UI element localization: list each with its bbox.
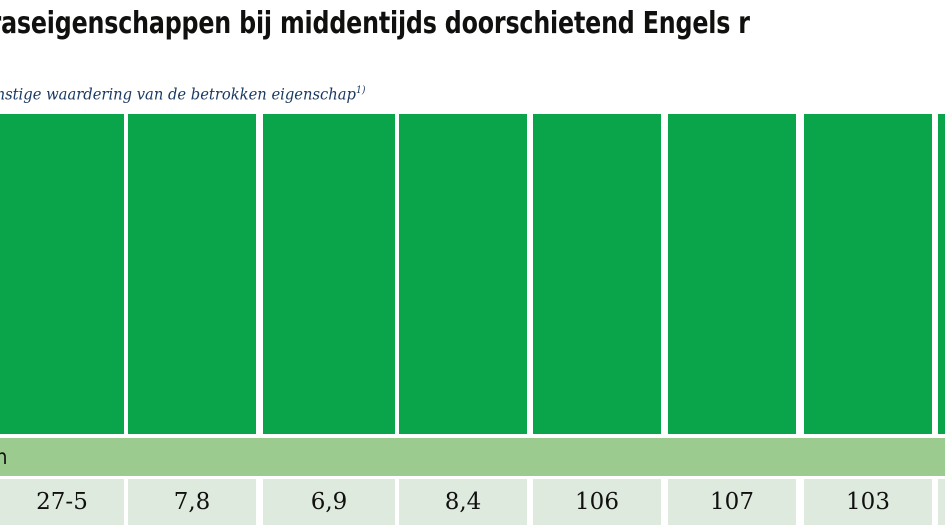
group-band-row: sen bbox=[0, 438, 945, 476]
page-note: n op een gunstige waardering van de betr… bbox=[0, 72, 920, 105]
table-header-row: Gemiddelde doorschiet- datumStandvastigh… bbox=[0, 114, 945, 434]
cell-opbrengst1: 106 bbox=[533, 479, 661, 525]
cell-doorschietdatum: 27-5 bbox=[0, 479, 124, 525]
page-subtitle: ltaten bbox=[0, 44, 920, 72]
cell-standvastigheid: 7,8 bbox=[128, 479, 256, 525]
column-header-opbrengst2[interactable]: Droge stofopbrengst (relatief) van de tw… bbox=[668, 114, 796, 434]
column-header-doorschietdatum[interactable]: Gemiddelde doorschiet- datum bbox=[0, 114, 124, 434]
column-header-opbrengst1[interactable]: Droge stofopbrengst (relatief) van de ee… bbox=[533, 114, 661, 434]
table-page: an de raseigenschappen bij middentijds d… bbox=[0, 0, 945, 530]
column-header-kroonroest[interactable]: Resistentie tegen kroon- roest bbox=[399, 114, 527, 434]
table-row: 27-57,86,98,4106107103 bbox=[0, 479, 945, 525]
footnote-marker: 1) bbox=[356, 85, 365, 96]
page-note-text: n op een gunstige waardering van de betr… bbox=[0, 84, 356, 103]
cell-extra bbox=[938, 479, 945, 525]
page-title: an de raseigenschappen bij middentijds d… bbox=[0, 0, 876, 44]
cell-opbrengst2: 107 bbox=[668, 479, 796, 525]
cell-kroonroest: 8,4 bbox=[399, 479, 527, 525]
column-header-wintervastheid[interactable]: Wintervastheid bbox=[263, 114, 395, 434]
document-header: an de raseigenschappen bij middentijds d… bbox=[0, 0, 945, 105]
group-band-label: sen bbox=[0, 438, 7, 476]
column-header-standvastigheid[interactable]: Standvastigheid bbox=[128, 114, 256, 434]
cell-wintervastheid: 6,9 bbox=[263, 479, 395, 525]
column-header-opbrengstgem[interactable]: Droge stofopbrengst (relatief) gemiddeld… bbox=[804, 114, 932, 434]
cell-opbrengstgem: 103 bbox=[804, 479, 932, 525]
ras-eigenschappen-table: Gemiddelde doorschiet- datumStandvastigh… bbox=[0, 114, 945, 525]
column-header-extra[interactable] bbox=[938, 114, 945, 434]
